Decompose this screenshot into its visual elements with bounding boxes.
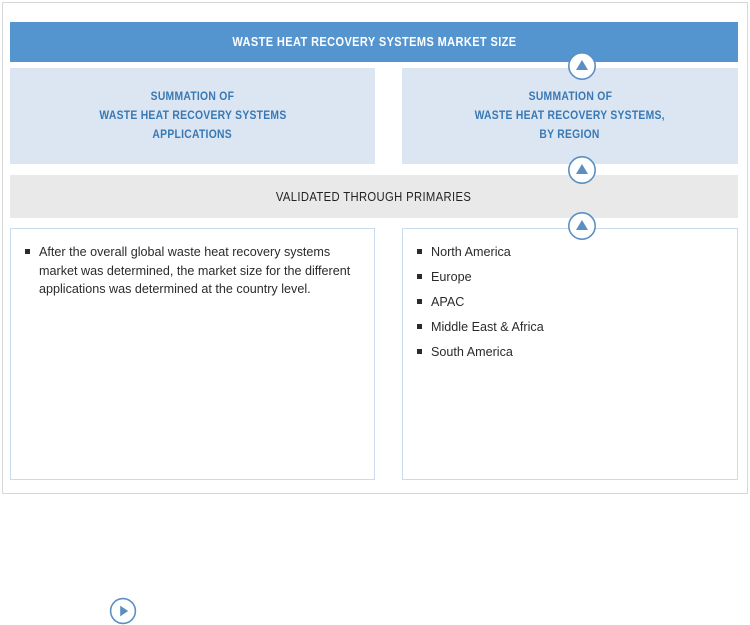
summation-applications-box: SUMMATION OF WASTE HEAT RECOVERY SYSTEMS… [10,68,375,164]
square-bullet-icon [417,274,422,279]
list-item-label: North America [431,245,511,259]
square-bullet-icon [417,299,422,304]
list-item-label: South America [431,345,513,359]
list-item: APAC [417,293,723,312]
summation-by-region-line-3: BY REGION [540,126,600,145]
page-title: WASTE HEAT RECOVERY SYSTEMS MARKET SIZE [232,35,516,49]
validated-through-primaries-label: VALIDATED THROUGH PRIMARIES [276,190,471,204]
square-bullet-icon [417,249,422,254]
regions-detail-box: North America Europe APAC Middle East & … [402,228,738,480]
list-item: Middle East & Africa [417,318,723,337]
list-item-label: APAC [431,295,464,309]
up-arrow-circle-icon[interactable] [567,51,597,81]
regions-bullet-list: North America Europe APAC Middle East & … [403,229,737,362]
up-arrow-circle-icon[interactable] [567,211,597,241]
play-circle-icon[interactable] [109,597,137,625]
diagram-canvas: WASTE HEAT RECOVERY SYSTEMS MARKET SIZE … [0,0,750,496]
summation-by-region-line-1: SUMMATION OF [528,88,612,107]
list-item: Europe [417,268,723,287]
summation-by-region-box: SUMMATION OF WASTE HEAT RECOVERY SYSTEMS… [402,68,738,164]
summation-by-region-line-2: WASTE HEAT RECOVERY SYSTEMS, [475,107,665,126]
list-item: North America [417,243,723,262]
summation-applications-line-3: APPLICATIONS [153,126,233,145]
list-item-label: After the overall global waste heat reco… [39,245,350,296]
square-bullet-icon [25,249,30,254]
summation-row: SUMMATION OF WASTE HEAT RECOVERY SYSTEMS… [10,68,738,164]
validated-through-primaries-bar: VALIDATED THROUGH PRIMARIES [10,175,738,218]
applications-bullet-list: After the overall global waste heat reco… [11,229,374,299]
list-item: South America [417,343,723,362]
list-item-label: Europe [431,270,472,284]
up-arrow-circle-icon[interactable] [567,155,597,185]
applications-detail-box: After the overall global waste heat reco… [10,228,375,480]
summation-applications-line-1: SUMMATION OF [151,88,235,107]
list-item-label: Middle East & Africa [431,320,544,334]
market-size-header-bar: WASTE HEAT RECOVERY SYSTEMS MARKET SIZE [10,22,738,62]
list-item: After the overall global waste heat reco… [25,243,360,299]
summation-applications-line-2: WASTE HEAT RECOVERY SYSTEMS [99,107,286,126]
square-bullet-icon [417,349,422,354]
square-bullet-icon [417,324,422,329]
